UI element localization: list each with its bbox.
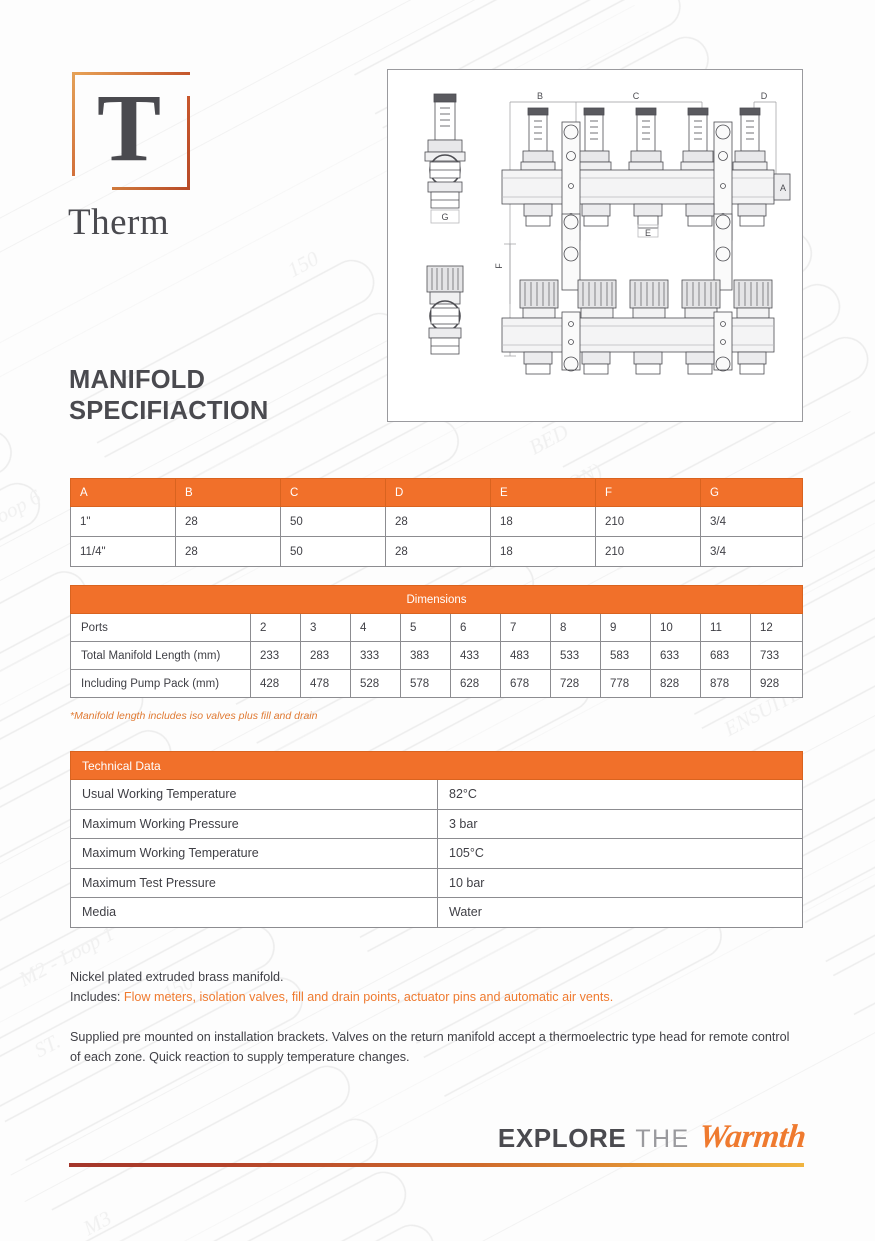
product-description: Nickel plated extruded brass manifold. I… bbox=[70, 967, 800, 1068]
table-header-row: A B C D E F G bbox=[71, 479, 803, 507]
table-title-row: Technical Data bbox=[71, 752, 803, 780]
spec-value: 105°C bbox=[438, 839, 803, 869]
cell: 778 bbox=[601, 670, 651, 698]
cell: 483 bbox=[501, 642, 551, 670]
cell: 50 bbox=[281, 537, 386, 567]
cell: 528 bbox=[351, 670, 401, 698]
dimension-letters-table: A B C D E F G 1" 28 50 28 18 210 3/4 11/… bbox=[70, 478, 803, 567]
svg-text:B: B bbox=[537, 91, 543, 101]
description-line-1: Nickel plated extruded brass manifold. bbox=[70, 967, 800, 987]
cell: 1" bbox=[71, 507, 176, 537]
cell: 283 bbox=[301, 642, 351, 670]
cell: 233 bbox=[251, 642, 301, 670]
svg-text:150: 150 bbox=[284, 246, 324, 282]
dimensions-footnote: *Manifold length includes iso valves plu… bbox=[70, 710, 317, 722]
svg-text:G: G bbox=[441, 212, 448, 222]
cell: 578 bbox=[401, 670, 451, 698]
technical-data-table: Technical Data Usual Working Temperature… bbox=[70, 751, 803, 928]
svg-text:C: C bbox=[633, 91, 640, 101]
cell: 3/4 bbox=[701, 537, 803, 567]
cell: 583 bbox=[601, 642, 651, 670]
table-row-pump-pack: Including Pump Pack (mm) 428 478 528 578… bbox=[71, 670, 803, 698]
cell: 828 bbox=[651, 670, 701, 698]
logo-frame: T bbox=[68, 72, 190, 190]
cell: 3/4 bbox=[701, 507, 803, 537]
svg-text:D: D bbox=[761, 91, 768, 101]
cell: 478 bbox=[301, 670, 351, 698]
specification-page: M2 - Loop 6 150 FLOOR M2 - Loop 1 ST. 15… bbox=[0, 0, 875, 1241]
cell: 333 bbox=[351, 642, 401, 670]
svg-text:E: E bbox=[645, 228, 651, 238]
cell: 5 bbox=[401, 614, 451, 642]
cell: 633 bbox=[651, 642, 701, 670]
cell: 728 bbox=[551, 670, 601, 698]
cell: 4 bbox=[351, 614, 401, 642]
table-row: Usual Working Temperature 82°C bbox=[71, 780, 803, 810]
spec-value: 82°C bbox=[438, 780, 803, 810]
table-title-row: Dimensions bbox=[71, 586, 803, 614]
includes-list: Flow meters, isolation valves, fill and … bbox=[124, 990, 613, 1004]
cell: 7 bbox=[501, 614, 551, 642]
dimensions-table: Dimensions Ports 2 3 4 5 6 7 8 9 10 11 1… bbox=[70, 585, 803, 698]
spec-label: Usual Working Temperature bbox=[71, 780, 438, 810]
cell: 28 bbox=[176, 537, 281, 567]
technical-data-title: Technical Data bbox=[71, 752, 803, 780]
cell: 628 bbox=[451, 670, 501, 698]
footer-divider-rule bbox=[69, 1163, 804, 1167]
row-label: Ports bbox=[71, 614, 251, 642]
cell: 533 bbox=[551, 642, 601, 670]
cell: 11/4" bbox=[71, 537, 176, 567]
cell: 3 bbox=[301, 614, 351, 642]
cell: 28 bbox=[176, 507, 281, 537]
brand-name: Therm bbox=[68, 204, 298, 241]
svg-text:A: A bbox=[780, 183, 786, 193]
cell: 878 bbox=[701, 670, 751, 698]
col-header-d: D bbox=[386, 479, 491, 507]
cell: 18 bbox=[491, 537, 596, 567]
cell: 18 bbox=[491, 507, 596, 537]
table-row: Media Water bbox=[71, 898, 803, 928]
cell: 12 bbox=[751, 614, 803, 642]
cell: 11 bbox=[701, 614, 751, 642]
tagline-the: THE bbox=[635, 1125, 689, 1154]
svg-text:BED: BED bbox=[525, 419, 572, 459]
page-title-line1: MANIFOLD bbox=[69, 365, 269, 396]
row-label: Including Pump Pack (mm) bbox=[71, 670, 251, 698]
svg-text:ST.: ST. bbox=[30, 1029, 64, 1062]
cell: 210 bbox=[596, 507, 701, 537]
col-header-b: B bbox=[176, 479, 281, 507]
tagline-warmth: Warmth bbox=[697, 1119, 807, 1156]
description-paragraph-2: Supplied pre mounted on installation bra… bbox=[70, 1027, 800, 1068]
col-header-a: A bbox=[71, 479, 176, 507]
spec-label: Media bbox=[71, 898, 438, 928]
cell: 433 bbox=[451, 642, 501, 670]
cell: 210 bbox=[596, 537, 701, 567]
brand-logo: T Therm bbox=[68, 72, 298, 241]
table-row: Maximum Working Pressure 3 bar bbox=[71, 809, 803, 839]
cell: 2 bbox=[251, 614, 301, 642]
table-row: Maximum Test Pressure 10 bar bbox=[71, 868, 803, 898]
table-row: 11/4" 28 50 28 18 210 3/4 bbox=[71, 537, 803, 567]
footer-tagline: EXPLORE THE Warmth bbox=[498, 1119, 805, 1156]
spec-label: Maximum Working Temperature bbox=[71, 839, 438, 869]
spec-label: Maximum Test Pressure bbox=[71, 868, 438, 898]
cell: 928 bbox=[751, 670, 803, 698]
cell: 678 bbox=[501, 670, 551, 698]
spec-label: Maximum Working Pressure bbox=[71, 809, 438, 839]
page-title-line2: SPECIFIACTION bbox=[69, 396, 269, 427]
logo-letter: T bbox=[68, 72, 190, 190]
manifold-technical-drawing: G B bbox=[387, 69, 803, 422]
svg-text:M3: M3 bbox=[78, 1206, 115, 1241]
col-header-f: F bbox=[596, 479, 701, 507]
table-row-ports: Ports 2 3 4 5 6 7 8 9 10 11 12 bbox=[71, 614, 803, 642]
tagline-explore: EXPLORE bbox=[498, 1123, 626, 1154]
cell: 28 bbox=[386, 537, 491, 567]
cell: 428 bbox=[251, 670, 301, 698]
cell: 28 bbox=[386, 507, 491, 537]
table-row: 1" 28 50 28 18 210 3/4 bbox=[71, 507, 803, 537]
spec-value: 3 bar bbox=[438, 809, 803, 839]
description-includes-line: Includes: Flow meters, isolation valves,… bbox=[70, 987, 800, 1007]
cell: 8 bbox=[551, 614, 601, 642]
col-header-e: E bbox=[491, 479, 596, 507]
spec-value: 10 bar bbox=[438, 868, 803, 898]
cell: 50 bbox=[281, 507, 386, 537]
svg-text:M2 - Loop 6: M2 - Loop 6 bbox=[0, 484, 45, 555]
row-label: Total Manifold Length (mm) bbox=[71, 642, 251, 670]
svg-text:F: F bbox=[494, 263, 504, 269]
cell: 10 bbox=[651, 614, 701, 642]
cell: 683 bbox=[701, 642, 751, 670]
page-title: MANIFOLD SPECIFIACTION bbox=[69, 365, 269, 427]
col-header-g: G bbox=[701, 479, 803, 507]
dimensions-title: Dimensions bbox=[71, 586, 803, 614]
cell: 9 bbox=[601, 614, 651, 642]
cell: 383 bbox=[401, 642, 451, 670]
table-row-total-length: Total Manifold Length (mm) 233 283 333 3… bbox=[71, 642, 803, 670]
includes-label: Includes: bbox=[70, 990, 124, 1004]
spec-value: Water bbox=[438, 898, 803, 928]
table-row: Maximum Working Temperature 105°C bbox=[71, 839, 803, 869]
cell: 6 bbox=[451, 614, 501, 642]
cell: 733 bbox=[751, 642, 803, 670]
col-header-c: C bbox=[281, 479, 386, 507]
